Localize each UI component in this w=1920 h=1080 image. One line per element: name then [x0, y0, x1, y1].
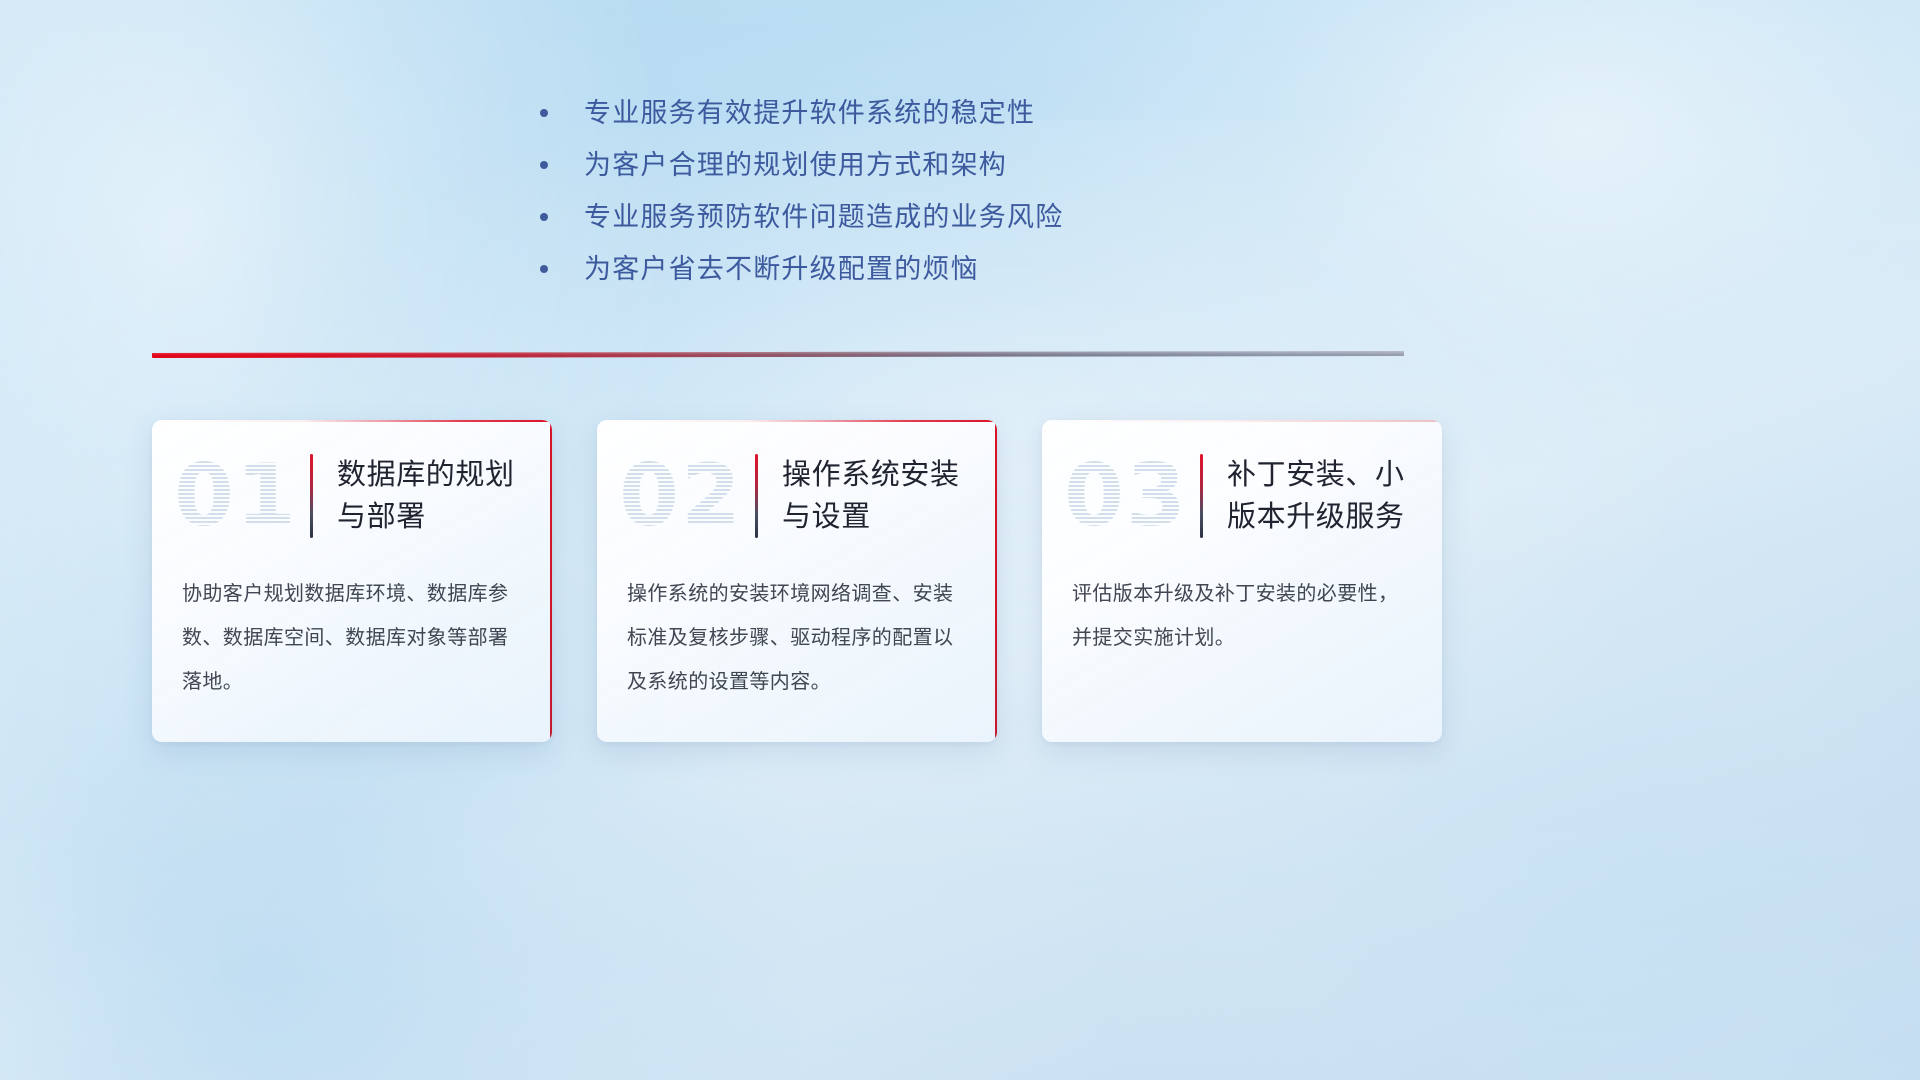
card-title: 数据库的规划与部署	[337, 454, 537, 538]
bullet-item-4: 为客户省去不断升级配置的烦恼	[540, 248, 1300, 300]
card-accent-rule	[755, 454, 758, 538]
card-header: 01 数据库的规划与部署	[152, 420, 552, 572]
card-number-watermark: 03	[1060, 453, 1192, 539]
card-description: 评估版本升级及补丁安装的必要性，并提交实施计划。	[1042, 572, 1442, 660]
bullet-item-label: 为客户合理的规划使用方式和架构	[584, 144, 1007, 186]
benefits-bullet-list: 专业服务有效提升软件系统的稳定性 为客户合理的规划使用方式和架构 专业服务预防软…	[540, 92, 1300, 300]
divider-gradient-line	[152, 351, 1404, 358]
slide-content: 专业服务有效提升软件系统的稳定性 为客户合理的规划使用方式和架构 专业服务预防软…	[0, 0, 1920, 1080]
bullet-dot-icon	[540, 213, 548, 221]
bullet-item-1: 专业服务有效提升软件系统的稳定性	[540, 92, 1300, 144]
bullet-item-label: 专业服务有效提升软件系统的稳定性	[584, 92, 1035, 134]
card-description: 协助客户规划数据库环境、数据库参数、数据库空间、数据库对象等部署落地。	[152, 572, 552, 704]
bullet-item-label: 为客户省去不断升级配置的烦恼	[584, 248, 979, 290]
bullet-dot-icon	[540, 161, 548, 169]
service-card-01[interactable]: 01 数据库的规划与部署 协助客户规划数据库环境、数据库参数、数据库空间、数据库…	[152, 420, 552, 742]
card-accent-rule	[310, 454, 313, 538]
card-accent-rule	[1200, 454, 1203, 538]
service-card-03[interactable]: 03 补丁安装、小版本升级服务 评估版本升级及补丁安装的必要性，并提交实施计划。	[1042, 420, 1442, 742]
bullet-item-3: 专业服务预防软件问题造成的业务风险	[540, 196, 1300, 248]
card-number-watermark: 02	[615, 453, 747, 539]
bullet-dot-icon	[540, 109, 548, 117]
bullet-item-2: 为客户合理的规划使用方式和架构	[540, 144, 1300, 196]
section-divider	[152, 348, 1404, 362]
card-title: 操作系统安装与设置	[782, 454, 982, 538]
card-number-watermark: 01	[170, 453, 302, 539]
card-header: 03 补丁安装、小版本升级服务	[1042, 420, 1442, 572]
bullet-dot-icon	[540, 265, 548, 273]
service-cards-row: 01 数据库的规划与部署 协助客户规划数据库环境、数据库参数、数据库空间、数据库…	[152, 420, 1768, 750]
bullet-item-label: 专业服务预防软件问题造成的业务风险	[584, 196, 1063, 238]
card-description: 操作系统的安装环境网络调查、安装标准及复核步骤、驱动程序的配置以及系统的设置等内…	[597, 572, 997, 704]
service-card-02[interactable]: 02 操作系统安装与设置 操作系统的安装环境网络调查、安装标准及复核步骤、驱动程…	[597, 420, 997, 742]
card-title: 补丁安装、小版本升级服务	[1227, 454, 1427, 538]
card-header: 02 操作系统安装与设置	[597, 420, 997, 572]
